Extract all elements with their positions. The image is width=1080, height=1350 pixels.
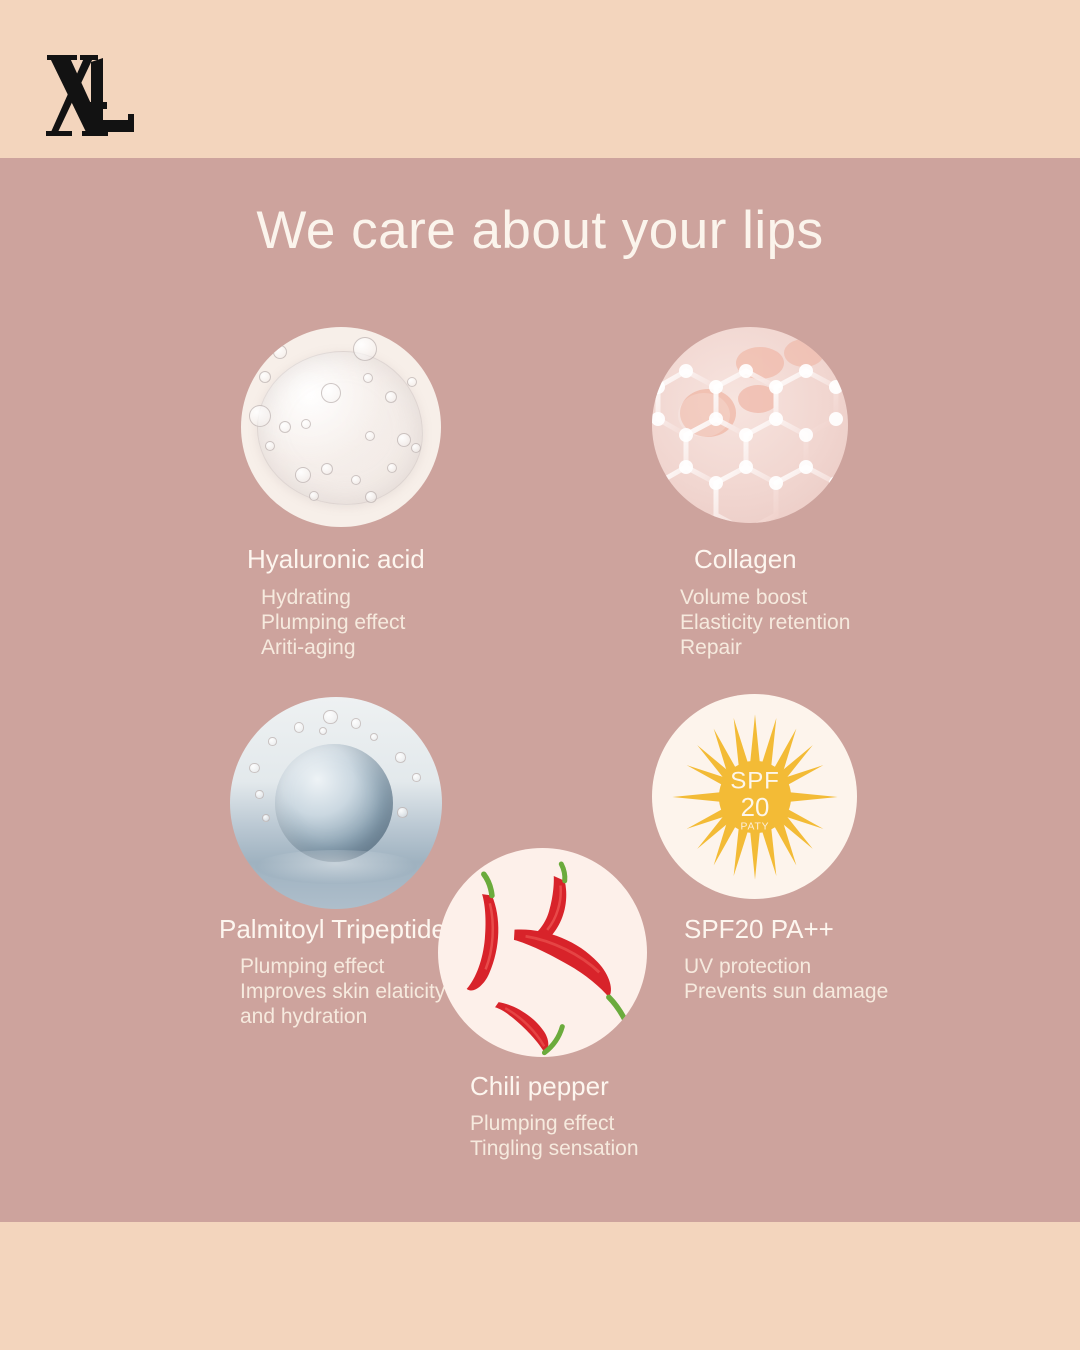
palmitoyl-tripeptide-5-image: [230, 697, 442, 909]
benefit-item: Plumping effect: [470, 1111, 639, 1136]
chili-pepper-title: Chili pepper: [470, 1073, 609, 1099]
chili-pepper-icon: [438, 848, 647, 1057]
benefit-item: Hydrating: [261, 585, 405, 610]
svg-text:PATY: PATY: [740, 821, 769, 832]
benefit-item: UV protection: [684, 954, 888, 979]
hyaluronic-acid-benefits: Hydrating Plumping effect Ariti-aging: [261, 585, 405, 660]
water-sphere-icon: [275, 744, 394, 863]
collagen-benefits: Volume boost Elasticity retention Repair: [680, 585, 850, 660]
top-cream-band: [0, 0, 1080, 158]
molecular-mesh-icon: [652, 327, 848, 523]
main-rose-panel: [0, 158, 1080, 1222]
benefit-item: and hydration: [240, 1004, 445, 1029]
benefit-item: Improves skin elaticity: [240, 979, 445, 1004]
hyaluronic-acid-image: [241, 327, 441, 527]
benefit-item: Ariti-aging: [261, 635, 405, 660]
chili-pepper-image: [438, 848, 647, 1057]
svg-text:SPF: SPF: [730, 767, 779, 794]
benefit-item: Repair: [680, 635, 850, 660]
benefit-item: Plumping effect: [261, 610, 405, 635]
collagen-title: Collagen: [694, 546, 797, 572]
bottom-cream-band: [0, 1222, 1080, 1350]
benefit-item: Elasticity retention: [680, 610, 850, 635]
chili-pepper-benefits: Plumping effect Tingling sensation: [470, 1111, 639, 1161]
palmitoyl-tripeptide-5-benefits: Plumping effect Improves skin elaticity …: [240, 954, 445, 1029]
benefit-item: Volume boost: [680, 585, 850, 610]
benefit-item: Prevents sun damage: [684, 979, 888, 1004]
xal-monogram-logo-icon: [44, 52, 140, 138]
hyaluronic-acid-title: Hyaluronic acid: [247, 546, 425, 572]
spf20-benefits: UV protection Prevents sun damage: [684, 954, 888, 1004]
palmitoyl-tripeptide-5-title: Palmitoyl Tripeptide-5: [219, 916, 469, 942]
collagen-image: [652, 327, 848, 523]
benefit-item: Tingling sensation: [470, 1136, 639, 1161]
sun-spf-badge-icon: SPF 20 PATY: [668, 710, 840, 882]
spf20-image: SPF 20 PATY: [652, 694, 857, 899]
spf20-title: SPF20 PA++: [684, 916, 834, 942]
infographic-canvas: We care about your lips H: [0, 0, 1080, 1350]
page-title: We care about your lips: [0, 204, 1080, 257]
benefit-item: Plumping effect: [240, 954, 445, 979]
svg-text:20: 20: [740, 793, 769, 821]
